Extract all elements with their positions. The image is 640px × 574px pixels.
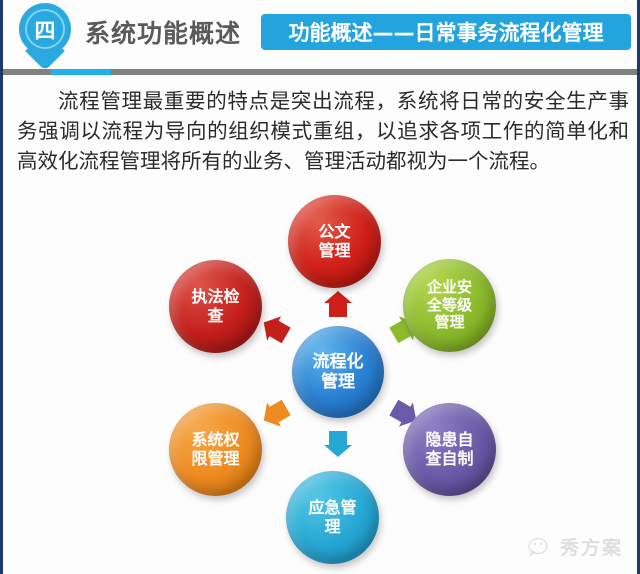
diagram-node-document-management[interactable]: 公文 管理	[288, 195, 381, 288]
node-label-line: 管理	[321, 372, 355, 392]
diagram-node-hidden-danger-selfcheck[interactable]: 隐患自 查自制	[403, 403, 496, 496]
watermark-label: 秀方案	[560, 533, 623, 560]
diagram-node-center-process-management[interactable]: 流程化 管理	[292, 326, 384, 418]
page-title: 系统功能概述	[85, 14, 241, 50]
node-label-line: 公文	[318, 223, 350, 242]
section-number-label: 四	[19, 7, 71, 53]
slide-header: 四 系统功能概述 功能概述——日常事务流程化管理	[3, 0, 637, 64]
watermark: 秀方案	[528, 533, 623, 560]
wechat-icon	[528, 537, 554, 557]
node-label-line: 管理	[318, 242, 350, 261]
arrow-lower-left-icon	[257, 395, 294, 432]
diagram-node-emergency-management[interactable]: 应急管 理	[286, 471, 379, 564]
header-banner-label: 功能概述——日常事务流程化管理	[289, 17, 604, 47]
node-label-line: 全等级	[427, 297, 472, 315]
arrow-down-icon	[324, 431, 352, 457]
diagram-node-enterprise-safety-level[interactable]: 企业安 全等级 管理	[403, 259, 496, 352]
header-banner: 功能概述——日常事务流程化管理	[261, 14, 631, 50]
node-label-line: 应急管	[308, 499, 356, 518]
node-label-line: 管理	[434, 314, 464, 332]
node-label-line: 流程化	[313, 352, 364, 372]
process-diagram: 公文 管理 企业安 全等级 管理 隐患自 查自制 应急管 理 系统权 限管理 执…	[3, 188, 637, 574]
node-label-line: 企业安	[427, 279, 472, 297]
diagram-node-system-permission[interactable]: 系统权 限管理	[169, 403, 262, 496]
slide-canvas: 四 系统功能概述 功能概述——日常事务流程化管理 流程管理最重要的特点是突出流程…	[0, 0, 640, 574]
header-divider-accent	[51, 69, 111, 75]
node-label-line: 隐患自	[425, 431, 473, 450]
arrow-upper-left-icon	[257, 310, 294, 347]
body-paragraph: 流程管理最重要的特点是突出流程，系统将日常的安全生产事务强调以流程为导向的组织模…	[17, 86, 629, 176]
node-label-line: 查自制	[425, 450, 473, 469]
node-label-line: 查	[207, 307, 223, 326]
node-label-line: 理	[324, 518, 340, 537]
node-label-line: 执法检	[191, 288, 239, 307]
arrow-up-icon	[324, 291, 352, 317]
section-pin-marker: 四	[15, 3, 75, 65]
node-label-line: 系统权	[191, 431, 239, 450]
diagram-node-law-enforcement-inspection[interactable]: 执法检 查	[169, 260, 262, 353]
node-label-line: 限管理	[191, 450, 239, 469]
